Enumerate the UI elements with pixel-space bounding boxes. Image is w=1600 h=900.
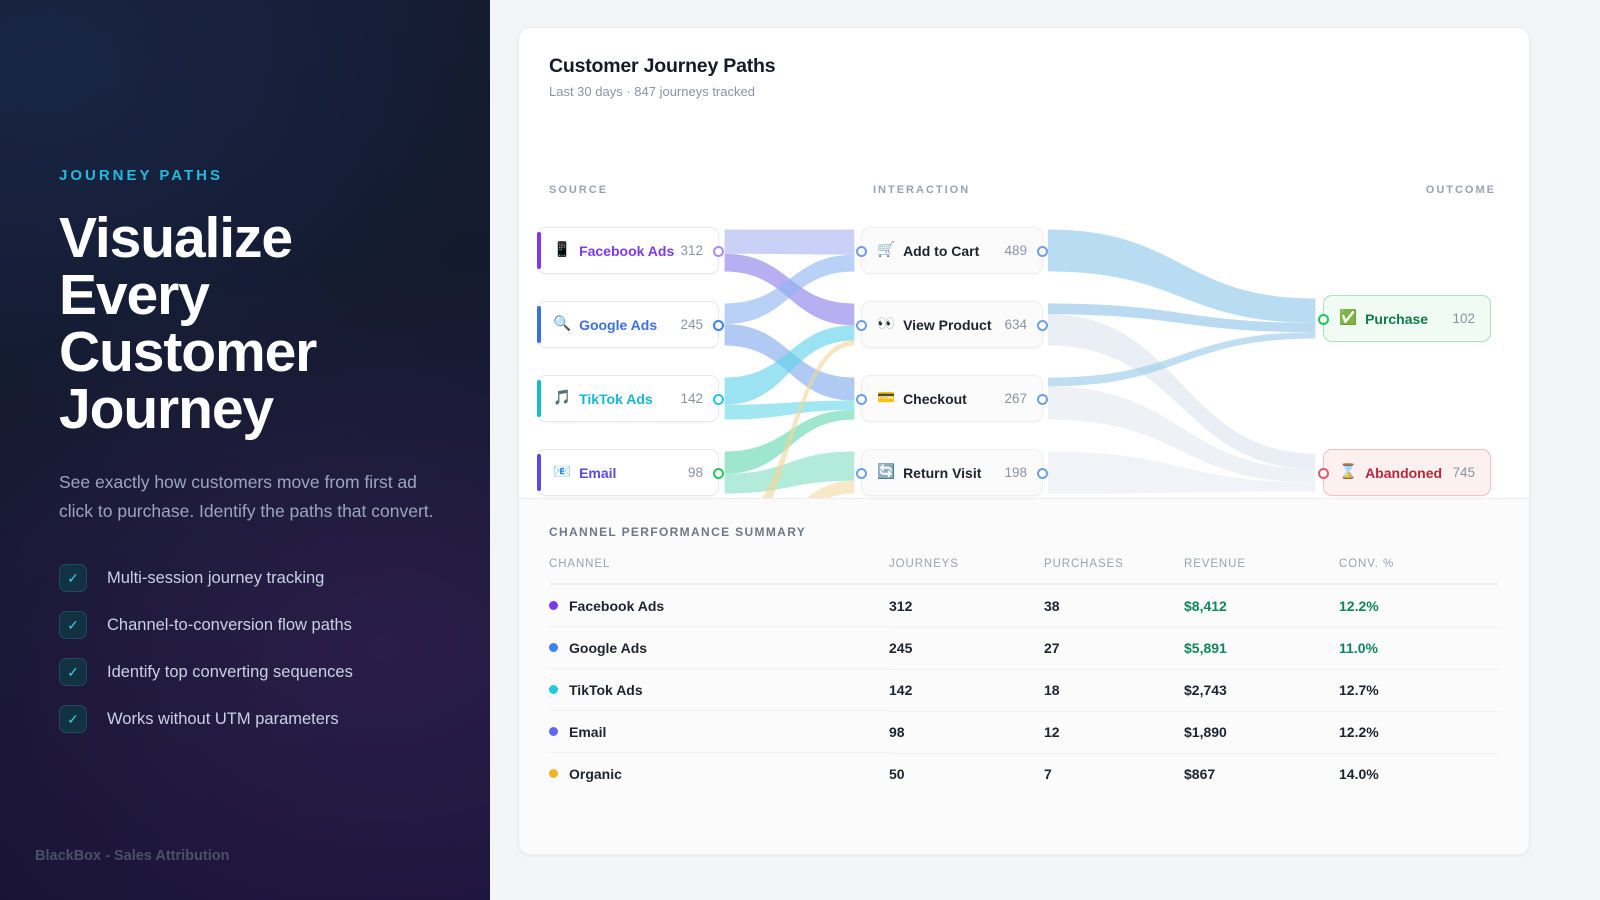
cell-revenue: $867 (1184, 753, 1339, 795)
credit-card-icon: 💳 (877, 391, 895, 406)
channel-performance-section: CHANNEL PERFORMANCE SUMMARY CHANNEL JOUR… (519, 498, 1529, 854)
sankey-node-tiktok-ads[interactable]: 🎵TikTok Ads142 (537, 375, 719, 422)
node-label: Checkout (903, 391, 1004, 407)
table-body: Facebook Ads31238$8,41212.2%Google Ads24… (549, 584, 1499, 795)
card-subtitle: Last 30 days · 847 journeys tracked (549, 84, 1499, 99)
cell-channel: TikTok Ads (549, 669, 889, 711)
node-value: 142 (680, 391, 703, 406)
th-channel[interactable]: CHANNEL (549, 558, 889, 584)
sankey-diagram: SOURCE INTERACTION OUTCOME 📱Facebook Ads… (519, 109, 1529, 519)
table-header-row: CHANNEL JOURNEYS PURCHASES REVENUE CONV.… (549, 558, 1499, 584)
cell-purchases: 27 (1044, 627, 1184, 669)
node-value: 245 (680, 317, 703, 332)
cell-revenue: $1,890 (1184, 711, 1339, 753)
node-label: TikTok Ads (579, 391, 680, 407)
node-label: Add to Cart (903, 243, 1004, 259)
check-icon: ✓ (59, 658, 87, 686)
cell-purchases: 18 (1044, 669, 1184, 711)
node-port-right[interactable] (1037, 246, 1048, 257)
list-item: ✓ Works without UTM parameters (59, 705, 450, 733)
sankey-node-checkout[interactable]: 💳Checkout267 (861, 375, 1043, 422)
node-label: Facebook Ads (579, 243, 680, 259)
sankey-link-facebook-ads-to-add-to-cart[interactable] (725, 230, 855, 255)
node-port-right[interactable] (1037, 468, 1048, 479)
node-label: Google Ads (579, 317, 680, 333)
card-title: Customer Journey Paths (549, 55, 1499, 78)
sankey-node-email[interactable]: 📧Email98 (537, 449, 719, 496)
cell-conv: 12.7% (1339, 669, 1499, 711)
channel-performance-table: CHANNEL JOURNEYS PURCHASES REVENUE CONV.… (549, 558, 1499, 795)
node-port-right[interactable] (713, 320, 724, 331)
node-port-left[interactable] (856, 246, 867, 257)
channel-color-dot (549, 643, 558, 652)
marketing-sidebar: JOURNEY PATHS Visualize Every Customer J… (0, 0, 490, 900)
channel-name: Organic (569, 766, 622, 782)
journey-card: Customer Journey Paths Last 30 days · 84… (518, 27, 1530, 855)
page-title: Visualize Every Customer Journey (59, 210, 450, 438)
channel-name: Facebook Ads (569, 598, 664, 614)
node-value: 102 (1452, 311, 1475, 326)
node-port-left[interactable] (1318, 468, 1329, 479)
list-item: ✓ Identify top converting sequences (59, 658, 450, 686)
th-journeys[interactable]: JOURNEYS (889, 558, 1044, 584)
node-accent-bar (537, 380, 541, 417)
list-item: ✓ Multi-session journey tracking (59, 564, 450, 592)
channel-name: Email (569, 724, 606, 740)
feature-label: Works without UTM parameters (107, 710, 339, 729)
mobile-phone-icon: 📱 (553, 243, 571, 258)
cell-purchases: 12 (1044, 711, 1184, 753)
node-value: 312 (680, 243, 703, 258)
sankey-node-add-to-cart[interactable]: 🛒Add to Cart489 (861, 227, 1043, 274)
sankey-node-facebook-ads[interactable]: 📱Facebook Ads312 (537, 227, 719, 274)
channel-name: Google Ads (569, 640, 647, 656)
channel-color-dot (549, 685, 558, 694)
cell-channel: Email (549, 711, 889, 753)
cell-channel: Organic (549, 753, 889, 794)
sankey-node-purchase[interactable]: ✅Purchase102 (1323, 295, 1491, 342)
node-value: 267 (1004, 391, 1027, 406)
node-port-left[interactable] (1318, 314, 1329, 325)
cell-channel: Google Ads (549, 627, 889, 669)
cell-purchases: 7 (1044, 753, 1184, 795)
eyebrow-label: JOURNEY PATHS (59, 167, 450, 184)
node-port-left[interactable] (856, 468, 867, 479)
sankey-node-return-visit[interactable]: 🔄Return Visit198 (861, 449, 1043, 496)
magnifier-icon: 🔍 (553, 317, 571, 332)
cell-revenue: $8,412 (1184, 584, 1339, 627)
cell-channel: Facebook Ads (549, 585, 889, 627)
brand-footer: BlackBox - Sales Attribution (35, 848, 229, 864)
refresh-icon: 🔄 (877, 465, 895, 480)
cell-conv: 12.2% (1339, 584, 1499, 627)
node-port-right[interactable] (713, 468, 724, 479)
th-conv[interactable]: CONV. % (1339, 558, 1499, 584)
hourglass-icon: ⌛ (1339, 465, 1357, 480)
node-port-left[interactable] (856, 394, 867, 405)
sankey-node-google-ads[interactable]: 🔍Google Ads245 (537, 301, 719, 348)
subcopy-text: See exactly how customers move from firs… (59, 468, 450, 525)
cell-journeys: 98 (889, 711, 1044, 753)
table-row[interactable]: TikTok Ads14218$2,74312.7% (549, 669, 1499, 711)
node-port-left[interactable] (856, 320, 867, 331)
list-item: ✓ Channel-to-conversion flow paths (59, 611, 450, 639)
sankey-node-view-product[interactable]: 👀View Product634 (861, 301, 1043, 348)
feature-label: Channel-to-conversion flow paths (107, 616, 352, 635)
cell-conv: 14.0% (1339, 753, 1499, 795)
table-row[interactable]: Facebook Ads31238$8,41212.2% (549, 584, 1499, 627)
node-port-right[interactable] (1037, 320, 1048, 331)
node-value: 634 (1004, 317, 1027, 332)
feature-label: Multi-session journey tracking (107, 569, 324, 588)
sankey-node-abandoned[interactable]: ⌛Abandoned745 (1323, 449, 1491, 496)
node-value: 198 (1004, 465, 1027, 480)
email-icon: 📧 (553, 465, 571, 480)
node-label: Purchase (1365, 311, 1452, 327)
feature-label: Identify top converting sequences (107, 663, 353, 682)
check-mark-box-icon: ✅ (1339, 311, 1357, 326)
node-accent-bar (537, 454, 541, 491)
check-icon: ✓ (59, 705, 87, 733)
node-label: Email (579, 465, 688, 481)
node-value: 745 (1452, 465, 1475, 480)
node-accent-bar (537, 232, 541, 269)
channel-color-dot (549, 769, 558, 778)
check-icon: ✓ (59, 611, 87, 639)
cell-journeys: 142 (889, 669, 1044, 711)
cell-conv: 11.0% (1339, 627, 1499, 669)
cell-revenue: $2,743 (1184, 669, 1339, 711)
node-label: Return Visit (903, 465, 1004, 481)
check-icon: ✓ (59, 564, 87, 592)
eyes-icon: 👀 (877, 317, 895, 332)
table-title: CHANNEL PERFORMANCE SUMMARY (549, 525, 1499, 539)
shopping-cart-icon: 🛒 (877, 243, 895, 258)
music-note-icon: 🎵 (553, 391, 571, 406)
node-port-right[interactable] (713, 394, 724, 405)
channel-name: TikTok Ads (569, 682, 643, 698)
th-revenue[interactable]: REVENUE (1184, 558, 1339, 584)
channel-color-dot (549, 601, 558, 610)
card-header: Customer Journey Paths Last 30 days · 84… (519, 28, 1529, 99)
table-row[interactable]: Email9812$1,89012.2% (549, 711, 1499, 753)
node-value: 489 (1004, 243, 1027, 258)
channel-color-dot (549, 727, 558, 736)
table-row[interactable]: Organic507$86714.0% (549, 753, 1499, 795)
th-purchases[interactable]: PURCHASES (1044, 558, 1184, 584)
node-port-right[interactable] (1037, 394, 1048, 405)
feature-list: ✓ Multi-session journey tracking ✓ Chann… (59, 564, 450, 733)
cell-journeys: 312 (889, 584, 1044, 627)
cell-journeys: 245 (889, 627, 1044, 669)
cell-conv: 12.2% (1339, 711, 1499, 753)
node-label: Abandoned (1365, 465, 1452, 481)
node-label: View Product (903, 317, 1004, 333)
table-row[interactable]: Google Ads24527$5,89111.0% (549, 627, 1499, 669)
node-accent-bar (537, 306, 541, 343)
main-area: Customer Journey Paths Last 30 days · 84… (490, 0, 1600, 900)
cell-revenue: $5,891 (1184, 627, 1339, 669)
cell-purchases: 38 (1044, 584, 1184, 627)
node-value: 98 (688, 465, 703, 480)
node-port-right[interactable] (713, 246, 724, 257)
cell-journeys: 50 (889, 753, 1044, 795)
